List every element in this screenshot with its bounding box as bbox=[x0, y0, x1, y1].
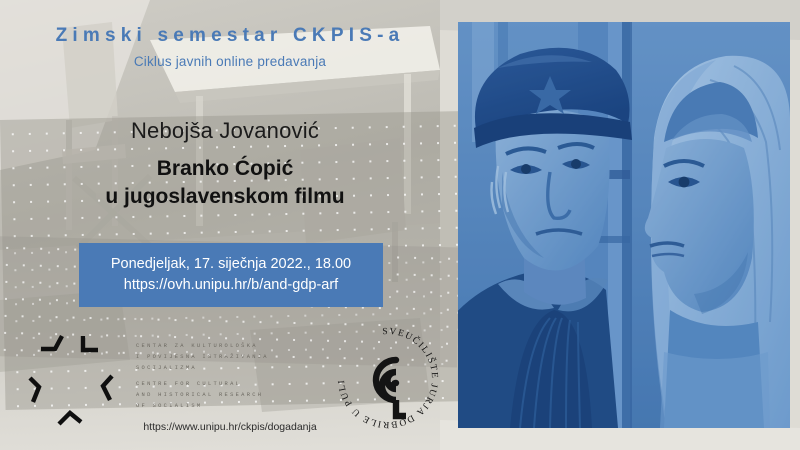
ckpis-en-line-3: OF SOCIALISM bbox=[136, 401, 269, 412]
event-info-box: Ponedjeljak, 17. siječnja 2022., 18.00 h… bbox=[79, 243, 383, 307]
film-still-photo bbox=[458, 22, 790, 428]
header-title: Zimski semestar CKPIS-a bbox=[0, 26, 460, 45]
header-subtitle: Ciklus javnih online predavanja bbox=[0, 54, 460, 69]
bracket-mark-left bbox=[30, 378, 39, 402]
ckpis-en-line-2: AND HISTORICAL RESEARCH bbox=[136, 390, 269, 401]
university-logo: SVEUČILIŠTE JURJA DOBRILE U PULI bbox=[334, 324, 442, 432]
event-datetime: Ponedjeljak, 17. siječnja 2022., 18.00 bbox=[111, 254, 351, 275]
ckpis-hr-line-3: SOCIJALIZMA bbox=[136, 363, 269, 374]
ckpis-text-logo: CENTAR ZA KULTUROLOŠKA I POVIJESNA ISTRA… bbox=[136, 341, 269, 412]
bracket-mark-top-left bbox=[41, 336, 62, 349]
ckpis-hr-line-1: CENTAR ZA KULTUROLOŠKA bbox=[136, 341, 269, 352]
spiral-icon bbox=[376, 360, 406, 416]
bracket-mark-bottom bbox=[59, 413, 81, 424]
bracket-ring-decoration bbox=[28, 332, 126, 430]
ckpis-hr-line-2: I POVIJESNA ISTRAŽIVANJA bbox=[136, 352, 269, 363]
event-join-link[interactable]: https://ovh.unipu.hr/b/and-gdp-arf bbox=[124, 275, 338, 296]
lecture-title: Branko Ćopić u jugoslavenskom filmu bbox=[0, 155, 450, 212]
footer-url[interactable]: https://www.unipu.hr/ckpis/dogadanja bbox=[100, 421, 360, 433]
poster-canvas: Zimski semestar CKPIS-a Ciklus javnih on… bbox=[0, 0, 800, 450]
lecture-title-line-2: u jugoslavenskom filmu bbox=[0, 183, 450, 211]
lecture-title-line-1: Branko Ćopić bbox=[0, 155, 450, 183]
speaker-name: Nebojša Jovanović bbox=[0, 118, 450, 144]
bracket-mark-top-right bbox=[83, 336, 98, 350]
poster-header: Zimski semestar CKPIS-a Ciklus javnih on… bbox=[0, 26, 460, 69]
bracket-mark-right bbox=[103, 376, 112, 400]
ckpis-en-line-1: CENTRE FOR CULTURAL bbox=[136, 379, 269, 390]
